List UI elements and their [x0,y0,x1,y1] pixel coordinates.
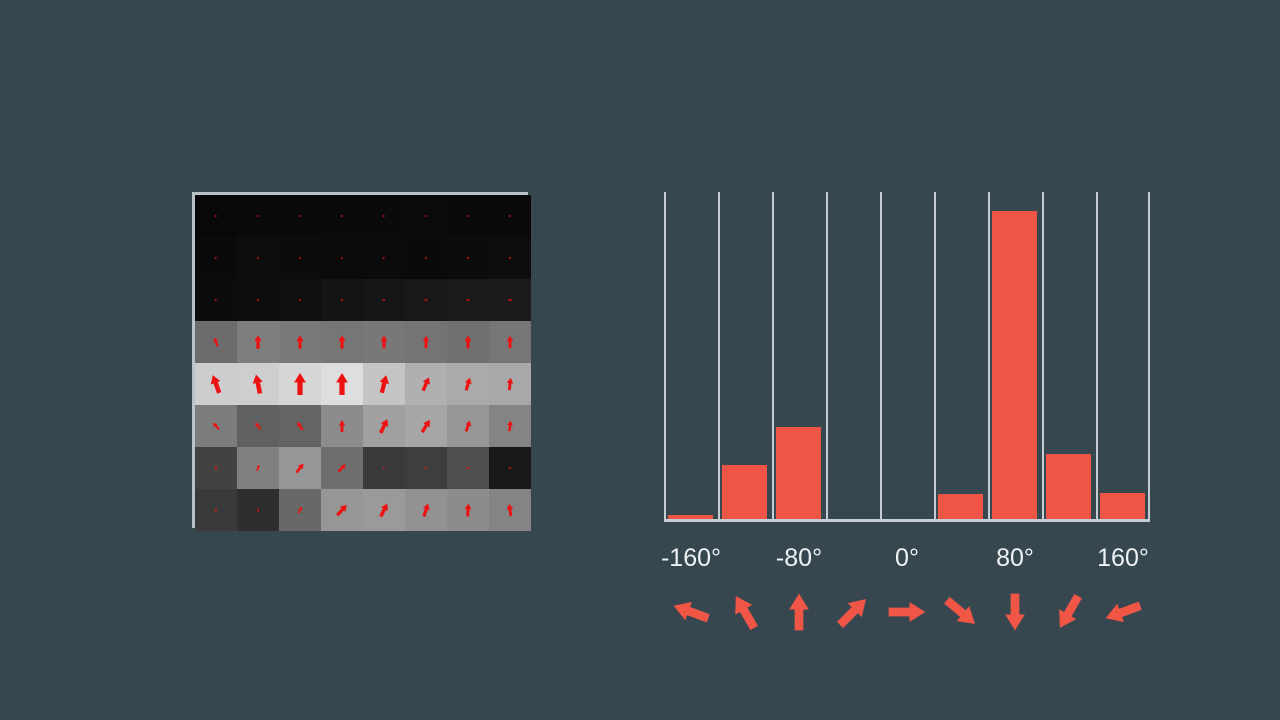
patch-cell [195,405,237,447]
histogram-bar[interactable] [722,465,767,519]
patch-cell [489,363,531,405]
patch-cell [321,363,363,405]
x-tick-label: -160° [661,542,721,574]
patch-cell [321,489,363,531]
grid-line [988,192,990,520]
grid-line [1096,192,1098,520]
gradient-arrow-icon [321,195,363,237]
histogram-bar[interactable] [776,427,821,519]
bin-direction-icon [664,582,718,642]
screenshot-root: -160°-80°0°80°160° [0,0,1280,720]
histogram-bin-direction-icons [600,582,1220,646]
gradient-arrow-icon [237,237,279,279]
patch-cell [447,405,489,447]
patch-cell [321,195,363,237]
gradient-arrow-icon [321,405,363,447]
gradient-arrow-icon [447,363,489,405]
patch-cell [489,279,531,321]
patch-cell [321,405,363,447]
patch-cell [195,489,237,531]
bin-direction-icon [1096,582,1150,642]
gradient-image-patch [192,192,528,528]
histogram-x-tick-labels: -160°-80°0°80°160° [600,542,1220,578]
grid-line [880,192,882,520]
patch-cell [279,405,321,447]
x-tick-label: -80° [776,542,822,574]
patch-cell [279,321,321,363]
histogram-bar[interactable] [1046,454,1091,519]
gradient-arrow-icon [279,363,321,405]
gradient-arrow-icon [363,195,405,237]
patch-cell [279,279,321,321]
patch-cell [363,237,405,279]
patch-cell [237,195,279,237]
patch-cell [237,321,279,363]
patch-cell [279,363,321,405]
x-tick-label: 0° [895,542,919,574]
gradient-arrow-icon [279,279,321,321]
gradient-arrow-icon [195,363,237,405]
patch-cell [447,237,489,279]
patch-cell-grid [195,195,525,525]
gradient-arrow-icon [237,489,279,531]
gradient-arrow-icon [321,489,363,531]
patch-cell [321,447,363,489]
patch-cell [447,363,489,405]
gradient-arrow-icon [237,195,279,237]
patch-cell [447,447,489,489]
patch-cell [279,195,321,237]
gradient-arrow-icon [405,447,447,489]
patch-cell [489,447,531,489]
gradient-arrow-icon [279,195,321,237]
gradient-arrow-icon [321,447,363,489]
patch-cell [447,279,489,321]
gradient-arrow-icon [405,321,447,363]
gradient-arrow-icon [237,405,279,447]
patch-cell [405,363,447,405]
gradient-arrow-icon [447,405,489,447]
gradient-arrow-icon [447,195,489,237]
histogram-bar[interactable] [668,515,713,519]
gradient-arrow-icon [489,489,531,531]
grid-line [1042,192,1044,520]
gradient-arrow-icon [363,489,405,531]
gradient-arrow-icon [279,405,321,447]
patch-cell [237,237,279,279]
gradient-arrow-icon [279,321,321,363]
gradient-arrow-icon [405,489,447,531]
x-tick-label: 80° [996,542,1034,574]
gradient-arrow-icon [237,363,279,405]
patch-cell [363,363,405,405]
gradient-arrow-icon [363,279,405,321]
patch-cell [195,447,237,489]
bin-direction-icon [826,582,880,642]
grid-line [934,192,936,520]
gradient-arrow-icon [363,237,405,279]
gradient-arrow-icon [237,447,279,489]
patch-cell [405,279,447,321]
gradient-arrow-icon [489,279,531,321]
grid-line [826,192,828,520]
grid-line [1148,192,1150,520]
patch-cell [447,489,489,531]
gradient-arrow-icon [195,447,237,489]
patch-cell [279,447,321,489]
grid-line [772,192,774,520]
patch-cell [237,279,279,321]
gradient-arrow-icon [321,237,363,279]
gradient-arrow-icon [279,489,321,531]
patch-cell [405,195,447,237]
gradient-arrow-icon [195,279,237,321]
histogram-bar[interactable] [992,211,1037,519]
patch-cell [195,279,237,321]
gradient-arrow-icon [447,279,489,321]
gradient-arrow-icon [489,237,531,279]
patch-cell [237,447,279,489]
patch-cell [363,279,405,321]
gradient-arrow-icon [195,195,237,237]
gradient-arrow-icon [447,447,489,489]
gradient-arrow-icon [405,195,447,237]
patch-cell [363,195,405,237]
gradient-arrow-icon [237,279,279,321]
bin-direction-icon [880,582,934,642]
gradient-arrow-icon [321,321,363,363]
gradient-arrow-icon [279,447,321,489]
patch-cell [405,321,447,363]
patch-cell [363,321,405,363]
patch-cell [489,489,531,531]
bin-direction-icon [934,582,988,642]
gradient-arrow-icon [405,237,447,279]
gradient-arrow-icon [363,321,405,363]
patch-cell [237,489,279,531]
gradient-arrow-icon [489,195,531,237]
gradient-arrow-icon [447,237,489,279]
histogram-bar[interactable] [1100,493,1145,519]
patch-cell [195,195,237,237]
gradient-arrow-icon [489,405,531,447]
patch-cell [363,489,405,531]
patch-cell [237,405,279,447]
patch-cell [405,447,447,489]
orientation-histogram [664,192,1150,522]
patch-cell [237,363,279,405]
patch-cell [447,195,489,237]
bin-direction-icon [988,582,1042,642]
gradient-arrow-icon [195,489,237,531]
patch-cell [321,237,363,279]
patch-cell [321,321,363,363]
patch-cell [405,237,447,279]
gradient-arrow-icon [321,279,363,321]
patch-cell [321,279,363,321]
gradient-arrow-icon [195,405,237,447]
patch-cell [279,237,321,279]
bin-direction-icon [718,582,772,642]
patch-cell [195,237,237,279]
gradient-arrow-icon [447,321,489,363]
patch-cell [363,405,405,447]
gradient-arrow-icon [363,447,405,489]
histogram-plot-area [664,192,1150,522]
gradient-arrow-icon [279,237,321,279]
gradient-arrow-icon [489,447,531,489]
gradient-arrow-icon [489,321,531,363]
gradient-arrow-icon [237,321,279,363]
patch-cell [489,405,531,447]
x-axis-line [664,519,1150,522]
gradient-arrow-icon [405,363,447,405]
x-tick-label: 160° [1097,542,1149,574]
bin-direction-icon [772,582,826,642]
patch-cell [489,195,531,237]
patch-cell [447,321,489,363]
gradient-arrow-icon [195,321,237,363]
gradient-arrow-icon [195,237,237,279]
gradient-arrow-icon [363,363,405,405]
patch-cell [363,447,405,489]
gradient-arrow-icon [405,405,447,447]
grid-line [718,192,720,520]
patch-cell [279,489,321,531]
bin-direction-icon [1042,582,1096,642]
patch-cell [405,489,447,531]
histogram-bar[interactable] [938,494,983,519]
gradient-arrow-icon [405,279,447,321]
patch-cell [489,237,531,279]
gradient-arrow-icon [489,363,531,405]
grid-line [664,192,666,520]
patch-cell [195,321,237,363]
patch-cell [195,363,237,405]
patch-cell [489,321,531,363]
patch-cell [405,405,447,447]
gradient-arrow-icon [447,489,489,531]
gradient-arrow-icon [363,405,405,447]
gradient-arrow-icon [321,363,363,405]
